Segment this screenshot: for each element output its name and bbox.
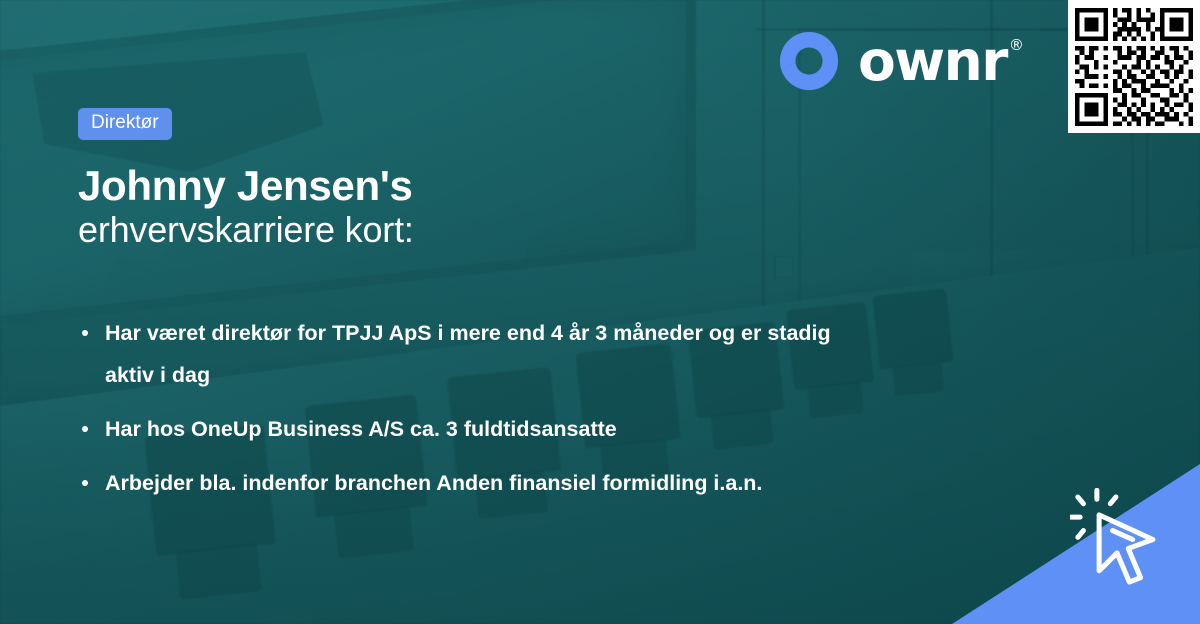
list-item-label: Arbejder bla. indenfor branchen Anden fi… [105, 471, 762, 495]
click-cursor-icon [1070, 488, 1182, 600]
ownr-wordmark-text: ownr [858, 34, 1007, 89]
list-item-label: Har været direktør for TPJJ ApS i mere e… [105, 321, 831, 387]
bullet-icon [82, 330, 88, 336]
role-badge: Direktør [78, 108, 172, 140]
page-subtitle: erhvervskarriere kort: [78, 209, 878, 251]
ownr-circle-logo-icon [778, 30, 840, 92]
career-facts-list: Har været direktør for TPJJ ApS i mere e… [78, 313, 878, 505]
qr-code-icon[interactable] [1075, 8, 1193, 126]
qr-code-panel[interactable] [1068, 0, 1200, 133]
list-item: Arbejder bla. indenfor branchen Anden fi… [78, 463, 838, 505]
list-item: Har hos OneUp Business A/S ca. 3 fuldtid… [78, 409, 838, 451]
bullet-icon [82, 426, 88, 432]
registered-trademark-icon: ® [1009, 38, 1024, 53]
page-title: Johnny Jensen's [78, 162, 878, 209]
ownr-logo: ownr ® [778, 30, 1024, 92]
ownr-wordmark: ownr ® [858, 34, 1024, 89]
bullet-icon [82, 480, 88, 486]
list-item-label: Har hos OneUp Business A/S ca. 3 fuldtid… [105, 417, 617, 441]
list-item: Har været direktør for TPJJ ApS i mere e… [78, 313, 838, 397]
card-content: Direktør Johnny Jensen's erhvervskarrier… [78, 108, 878, 517]
business-career-card: ownr ® Direktør Johnny Jensen's erhvervs… [0, 0, 1200, 624]
